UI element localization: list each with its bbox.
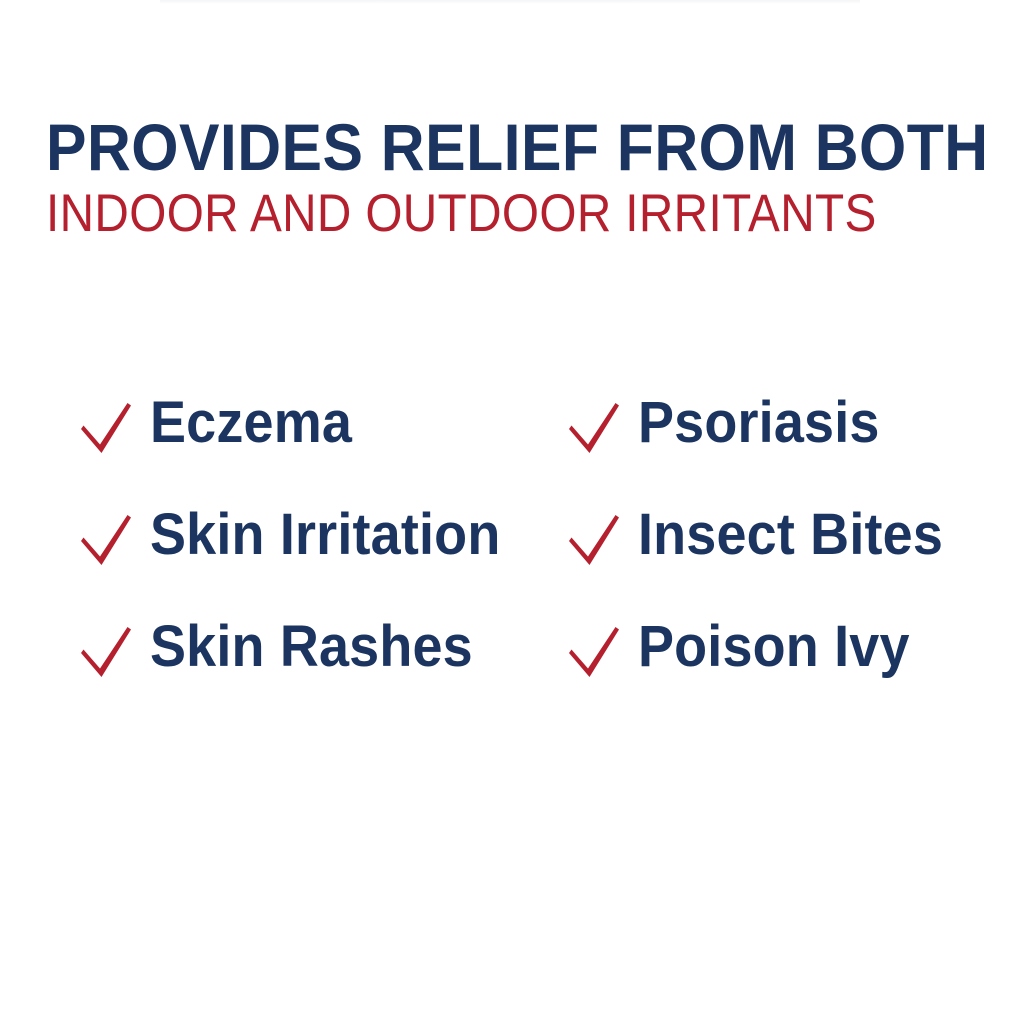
benefit-item-skin-rashes: Skin Rashes <box>78 616 566 682</box>
headline-secondary: INDOOR AND OUTDOOR IRRITANTS <box>46 179 892 240</box>
benefit-label: Poison Ivy <box>638 616 910 677</box>
headline-primary: PROVIDES RELIEF FROM BOTH <box>46 116 911 179</box>
check-icon <box>78 508 134 570</box>
benefit-item-eczema: Eczema <box>78 392 566 458</box>
benefit-label: Skin Irritation <box>150 504 500 565</box>
benefit-label: Skin Rashes <box>150 616 473 677</box>
benefit-item-skin-irritation: Skin Irritation <box>78 504 566 570</box>
benefit-label: Psoriasis <box>638 392 880 453</box>
benefit-label: Insect Bites <box>638 504 943 565</box>
benefit-item-psoriasis: Psoriasis <box>566 392 966 458</box>
check-icon <box>566 620 622 682</box>
promo-poster: PROVIDES RELIEF FROM BOTH INDOOR AND OUT… <box>0 0 1024 1024</box>
check-icon <box>566 396 622 458</box>
benefit-item-insect-bites: Insect Bites <box>566 504 966 570</box>
headline-block: PROVIDES RELIEF FROM BOTH INDOOR AND OUT… <box>46 116 986 240</box>
benefit-item-poison-ivy: Poison Ivy <box>566 616 966 682</box>
check-icon <box>566 508 622 570</box>
check-icon <box>78 396 134 458</box>
benefits-checklist: Eczema Psoriasis Skin Irritation <box>78 392 978 728</box>
benefit-label: Eczema <box>150 392 352 453</box>
check-icon <box>78 620 134 682</box>
top-edge-tint <box>160 0 860 4</box>
